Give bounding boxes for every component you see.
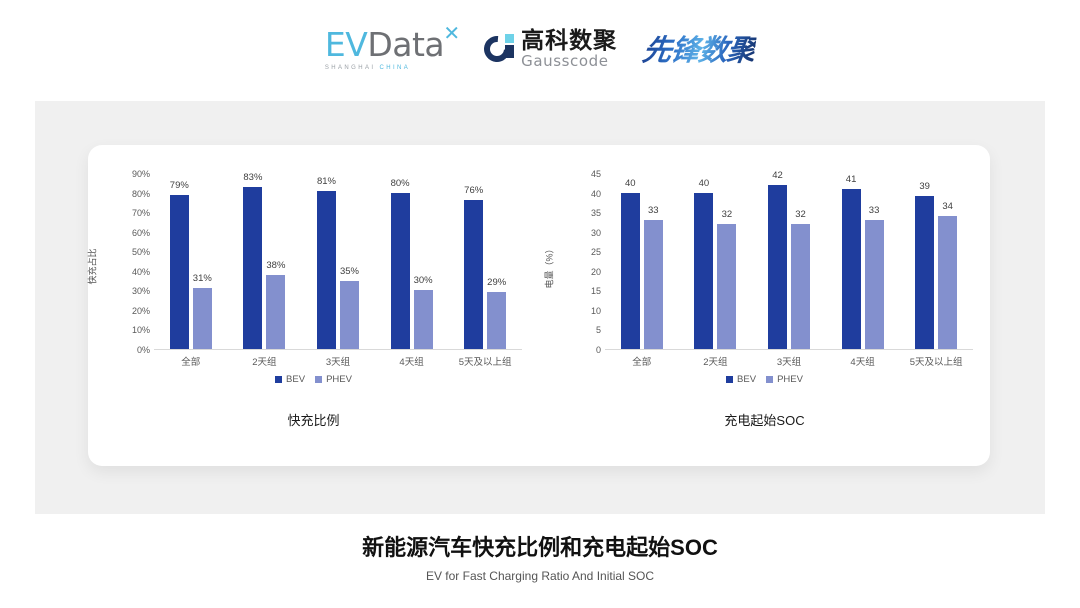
bar-bev-4: 39: [915, 196, 934, 349]
x-axis-category-label: 全部: [154, 354, 228, 368]
bar-bev-1: 83%: [243, 187, 262, 349]
evdata-logo: EVData SHANGHAI CHINA ✕: [325, 28, 458, 71]
left-chart-y-ticks: 90%80%70%60%50%40%30%20%10%0%: [116, 174, 150, 350]
page-subtitle: EV for Fast Charging Ratio And Initial S…: [0, 569, 1080, 583]
legend-item-bev[interactable]: BEV: [726, 374, 756, 385]
bar-bev-0: 79%: [170, 195, 189, 349]
bar-value-label: 35%: [340, 266, 359, 277]
x-axis-category-label: 5天及以上组: [899, 354, 973, 368]
legend-item-phev[interactable]: PHEV: [315, 374, 352, 385]
bar-value-label: 34: [942, 201, 953, 212]
chart-fast-charging-ratio: 快充占比 90%80%70%60%50%40%30%20%10%0% 79%31…: [88, 152, 539, 452]
right-chart-y-ticks: 454035302520151050: [567, 174, 601, 350]
legend-label: BEV: [286, 374, 305, 385]
left-chart-y-tick: 40%: [132, 267, 150, 277]
bar-phev-3: 30%: [414, 290, 433, 349]
bar-value-label: 29%: [487, 277, 506, 288]
bar-group: 79%31%: [154, 174, 228, 349]
legend-swatch-icon: [766, 376, 773, 383]
evdata-tagline-country: CHINA: [380, 65, 411, 71]
right-chart-y-tick: 45: [591, 169, 601, 179]
evdata-letters-data: Data: [367, 25, 444, 64]
bar-group: 4232: [752, 174, 826, 349]
bar-value-label: 79%: [170, 180, 189, 191]
bar-phev-2: 35%: [340, 281, 359, 349]
bar-phev-1: 32: [717, 224, 736, 349]
bar-group: 81%35%: [301, 174, 375, 349]
left-chart-y-tick: 50%: [132, 247, 150, 257]
bar-value-label: 32: [795, 209, 806, 220]
bar-value-label: 33: [869, 205, 880, 216]
left-chart-y-tick: 0%: [137, 345, 150, 355]
right-chart-y-tick: 0: [596, 345, 601, 355]
gausscode-chinese-name: 高科数聚: [521, 30, 617, 53]
bar-group: 4032: [679, 174, 753, 349]
charts-row: 快充占比 90%80%70%60%50%40%30%20%10%0% 79%31…: [88, 152, 990, 452]
left-chart-caption: 快充比例: [88, 410, 539, 429]
right-chart-legend: BEVPHEV: [539, 374, 990, 385]
right-chart-y-tick: 30: [591, 228, 601, 238]
xianfeng-logo: 先锋数聚: [643, 27, 755, 71]
bar-value-label: 81%: [317, 176, 336, 187]
x-axis-category-label: 5天及以上组: [448, 354, 522, 368]
right-chart-y-tick: 35: [591, 208, 601, 218]
right-chart-y-tick: 20: [591, 267, 601, 277]
legend-label: PHEV: [777, 374, 803, 385]
left-chart-plot-area: 79%31%83%38%81%35%80%30%76%29%: [154, 174, 522, 350]
x-axis-category-label: 3天组: [301, 354, 375, 368]
evdata-tagline-city: SHANGHAI: [325, 65, 376, 71]
left-chart-y-tick: 90%: [132, 169, 150, 179]
evdata-letter-e: E: [325, 25, 345, 64]
chart-initial-soc: 电量（%） 454035302520151050 403340324232413…: [539, 152, 990, 452]
bar-value-label: 41: [846, 174, 857, 185]
bar-bev-0: 40: [621, 193, 640, 349]
right-chart-y-tick: 40: [591, 189, 601, 199]
bar-phev-0: 33: [644, 220, 663, 349]
x-axis-category-label: 2天组: [228, 354, 302, 368]
right-chart-y-axis-title: 电量（%）: [543, 244, 556, 288]
left-chart-y-tick: 20%: [132, 306, 150, 316]
gausscode-english-name: Gausscode: [521, 54, 617, 69]
evdata-wordmark: EVData: [325, 28, 444, 61]
bar-phev-0: 31%: [193, 288, 212, 349]
left-chart-y-tick: 60%: [132, 228, 150, 238]
xianfeng-wordmark: 先锋数聚: [640, 27, 758, 71]
bar-value-label: 42: [772, 170, 783, 181]
left-chart-legend: BEVPHEV: [88, 374, 539, 385]
bar-value-label: 80%: [391, 178, 410, 189]
bar-group: 76%29%: [448, 174, 522, 349]
bar-phev-4: 34: [938, 216, 957, 349]
left-chart-y-tick: 10%: [132, 325, 150, 335]
bar-group: 4033: [605, 174, 679, 349]
gausscode-mark-icon: [484, 34, 514, 64]
bar-value-label: 76%: [464, 185, 483, 196]
bar-value-label: 33: [648, 205, 659, 216]
gausscode-logo: 高科数聚 Gausscode: [484, 30, 617, 69]
bar-group: 83%38%: [228, 174, 302, 349]
bar-phev-4: 29%: [487, 292, 506, 349]
bar-bev-2: 42: [768, 185, 787, 349]
legend-item-bev[interactable]: BEV: [275, 374, 305, 385]
legend-item-phev[interactable]: PHEV: [766, 374, 803, 385]
right-chart-x-categories: 全部2天组3天组4天组5天及以上组: [605, 354, 973, 368]
footer: 新能源汽车快充比例和充电起始SOC EV for Fast Charging R…: [0, 530, 1080, 583]
legend-label: BEV: [737, 374, 756, 385]
bar-bev-4: 76%: [464, 200, 483, 349]
logo-bar: EVData SHANGHAI CHINA ✕ 高科数聚 Gausscode 先…: [0, 0, 1080, 92]
x-axis-category-label: 3天组: [752, 354, 826, 368]
right-chart-caption: 充电起始SOC: [539, 410, 990, 429]
bar-phev-3: 33: [865, 220, 884, 349]
bar-phev-1: 38%: [266, 275, 285, 349]
bar-bev-3: 80%: [391, 193, 410, 349]
bar-group: 3934: [899, 174, 973, 349]
x-axis-category-label: 全部: [605, 354, 679, 368]
bar-value-label: 39: [919, 181, 930, 192]
left-chart-x-categories: 全部2天组3天组4天组5天及以上组: [154, 354, 522, 368]
left-chart-y-tick: 80%: [132, 189, 150, 199]
legend-swatch-icon: [275, 376, 282, 383]
bar-value-label: 38%: [266, 260, 285, 271]
right-chart-plot-area: 40334032423241333934: [605, 174, 973, 350]
bar-group: 80%30%: [375, 174, 449, 349]
bar-value-label: 32: [722, 209, 733, 220]
evdata-cross-icon: ✕: [443, 21, 460, 46]
evdata-tagline: SHANGHAI CHINA: [325, 65, 444, 71]
bar-value-label: 40: [699, 178, 710, 189]
bar-value-label: 83%: [243, 172, 262, 183]
bar-bev-1: 40: [694, 193, 713, 349]
bar-value-label: 40: [625, 178, 636, 189]
legend-swatch-icon: [315, 376, 322, 383]
x-axis-category-label: 2天组: [679, 354, 753, 368]
bar-value-label: 30%: [414, 275, 433, 286]
legend-label: PHEV: [326, 374, 352, 385]
right-chart-y-tick: 25: [591, 247, 601, 257]
x-axis-category-label: 4天组: [375, 354, 449, 368]
legend-swatch-icon: [726, 376, 733, 383]
bar-value-label: 31%: [193, 273, 212, 284]
left-chart-y-tick: 70%: [132, 208, 150, 218]
right-chart-y-tick: 5: [596, 325, 601, 335]
x-axis-category-label: 4天组: [826, 354, 900, 368]
bar-bev-3: 41: [842, 189, 861, 349]
bar-group: 4133: [826, 174, 900, 349]
page-title: 新能源汽车快充比例和充电起始SOC: [0, 530, 1080, 562]
left-chart-y-axis-title: 快充占比: [86, 248, 99, 284]
evdata-letter-v: V: [345, 25, 367, 64]
right-chart-y-tick: 15: [591, 286, 601, 296]
right-chart-y-tick: 10: [591, 306, 601, 316]
bar-bev-2: 81%: [317, 191, 336, 349]
bar-phev-2: 32: [791, 224, 810, 349]
left-chart-y-tick: 30%: [132, 286, 150, 296]
